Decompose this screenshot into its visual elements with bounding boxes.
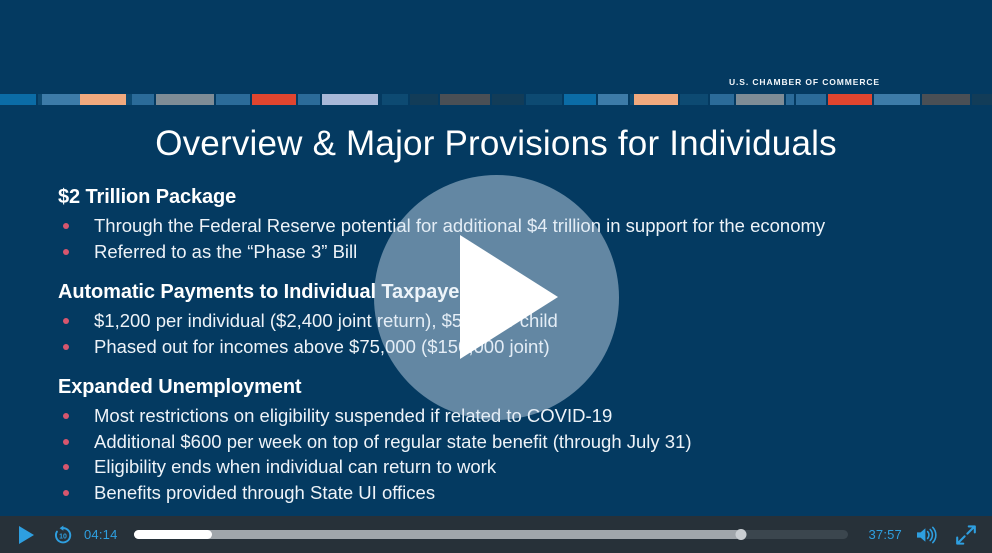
list-item-text: Benefits provided through State UI offic…	[94, 482, 435, 503]
bullet-dot-icon	[63, 223, 69, 229]
stripe-segment	[156, 94, 214, 105]
stripe-segment	[440, 94, 490, 105]
list-item-text: Referred to as the “Phase 3” Bill	[94, 241, 357, 262]
list-item: Benefits provided through State UI offic…	[58, 480, 952, 506]
decorative-stripe	[0, 94, 992, 105]
video-player[interactable]: U.S. CHAMBER OF COMMERCE Overview & Majo…	[0, 0, 992, 553]
play-icon	[19, 526, 34, 544]
rewind-10-button[interactable]: 10	[46, 516, 80, 553]
buffered-range	[134, 530, 742, 539]
play-button[interactable]	[6, 516, 46, 553]
bullet-dot-icon	[63, 490, 69, 496]
brand-bar: U.S. CHAMBER OF COMMERCE	[0, 74, 992, 96]
stripe-segment	[874, 94, 920, 105]
stripe-segment	[796, 94, 826, 105]
page-title: Overview & Major Provisions for Individu…	[0, 124, 992, 164]
bullet-dot-icon	[63, 464, 69, 470]
stripe-segment	[410, 94, 438, 105]
player-control-bar: 10 04:14 37:57	[0, 516, 992, 553]
bullet-dot-icon	[63, 318, 69, 324]
stripe-segment	[298, 94, 320, 105]
list-item: Eligibility ends when individual can ret…	[58, 454, 952, 480]
stripe-segment	[382, 94, 408, 105]
play-triangle-icon	[460, 235, 558, 359]
bullet-dot-icon	[63, 344, 69, 350]
list-item-text: Additional $600 per week on top of regul…	[94, 431, 692, 452]
stripe-segment	[710, 94, 734, 105]
stripe-segment	[736, 94, 784, 105]
stripe-segment	[922, 94, 970, 105]
list-item-text: Eligibility ends when individual can ret…	[94, 456, 496, 477]
stripe-segment	[634, 94, 678, 105]
stripe-segment	[0, 94, 36, 105]
stripe-segment	[526, 94, 562, 105]
stripe-segment	[564, 94, 596, 105]
duration-time: 37:57	[868, 527, 902, 542]
fullscreen-expand-icon	[955, 524, 977, 546]
volume-button[interactable]	[908, 516, 946, 553]
svg-text:10: 10	[59, 533, 67, 540]
stripe-segment	[492, 94, 524, 105]
list-item: Additional $600 per week on top of regul…	[58, 429, 952, 455]
stripe-segment	[828, 94, 872, 105]
stripe-segment	[216, 94, 250, 105]
fullscreen-button[interactable]	[946, 516, 986, 553]
stripe-segment	[786, 94, 794, 105]
stripe-segment	[680, 94, 708, 105]
stripe-segment	[80, 94, 126, 105]
stripe-segment	[972, 94, 992, 105]
scrubber-handle[interactable]	[736, 529, 747, 540]
stripe-segment	[132, 94, 154, 105]
bullet-dot-icon	[63, 249, 69, 255]
stripe-segment	[598, 94, 628, 105]
stripe-segment	[322, 94, 378, 105]
current-time: 04:14	[84, 527, 118, 542]
bullet-dot-icon	[63, 413, 69, 419]
volume-high-icon	[915, 525, 939, 545]
play-overlay-button[interactable]	[374, 175, 619, 420]
played-range	[134, 530, 213, 539]
stripe-segment	[42, 94, 80, 105]
stripe-segment	[252, 94, 296, 105]
bullet-dot-icon	[63, 439, 69, 445]
rewind-10-icon: 10	[52, 524, 74, 546]
progress-scrubber[interactable]	[134, 530, 849, 539]
brand-label: U.S. CHAMBER OF COMMERCE	[729, 77, 880, 87]
